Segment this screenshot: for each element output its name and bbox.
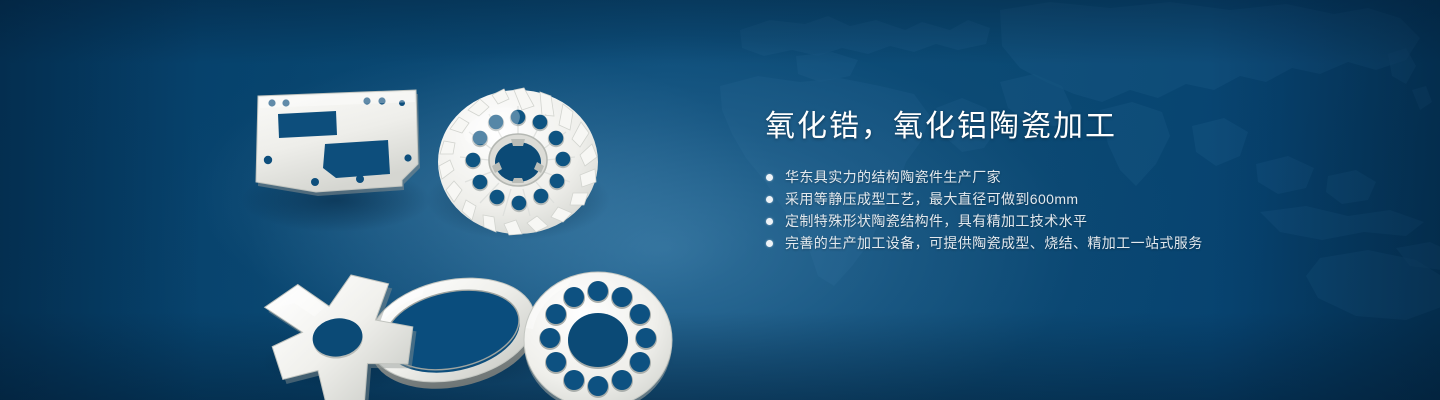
ceramic-perforated-disc-part [524,272,672,400]
list-item: 完善的生产加工设备，可提供陶瓷成型、烧结、精加工一站式服务 [765,232,1385,254]
list-item: 华东具实力的结构陶瓷件生产厂家 [765,166,1385,188]
page-title: 氧化锆，氧化铝陶瓷加工 [765,108,1385,146]
ceramic-products-photo [230,40,710,385]
bullet-dot-icon [766,240,773,247]
feature-text: 华东具实力的结构陶瓷件生产厂家 [785,169,1001,185]
ceramic-plate-part [256,90,420,196]
bullet-dot-icon [766,174,773,181]
bullet-dot-icon [766,196,773,203]
feature-text: 定制特殊形状陶瓷结构件，具有精加工技术水平 [785,213,1087,229]
bullet-dot-icon [766,218,773,225]
ceramic-impeller-part [438,88,598,235]
feature-text: 完善的生产加工设备，可提供陶瓷成型、烧结、精加工一站式服务 [785,235,1203,251]
feature-text: 采用等静压成型工艺，最大直径可做到600mm [785,191,1078,207]
feature-list: 华东具实力的结构陶瓷件生产厂家 采用等静压成型工艺，最大直径可做到600mm 定… [765,166,1385,254]
banner-copy: 氧化锆，氧化铝陶瓷加工 华东具实力的结构陶瓷件生产厂家 采用等静压成型工艺，最大… [765,108,1385,254]
list-item: 定制特殊形状陶瓷结构件，具有精加工技术水平 [765,210,1385,232]
list-item: 采用等静压成型工艺，最大直径可做到600mm [765,188,1385,210]
promo-banner: 氧化锆，氧化铝陶瓷加工 华东具实力的结构陶瓷件生产厂家 采用等静压成型工艺，最大… [0,0,1440,400]
